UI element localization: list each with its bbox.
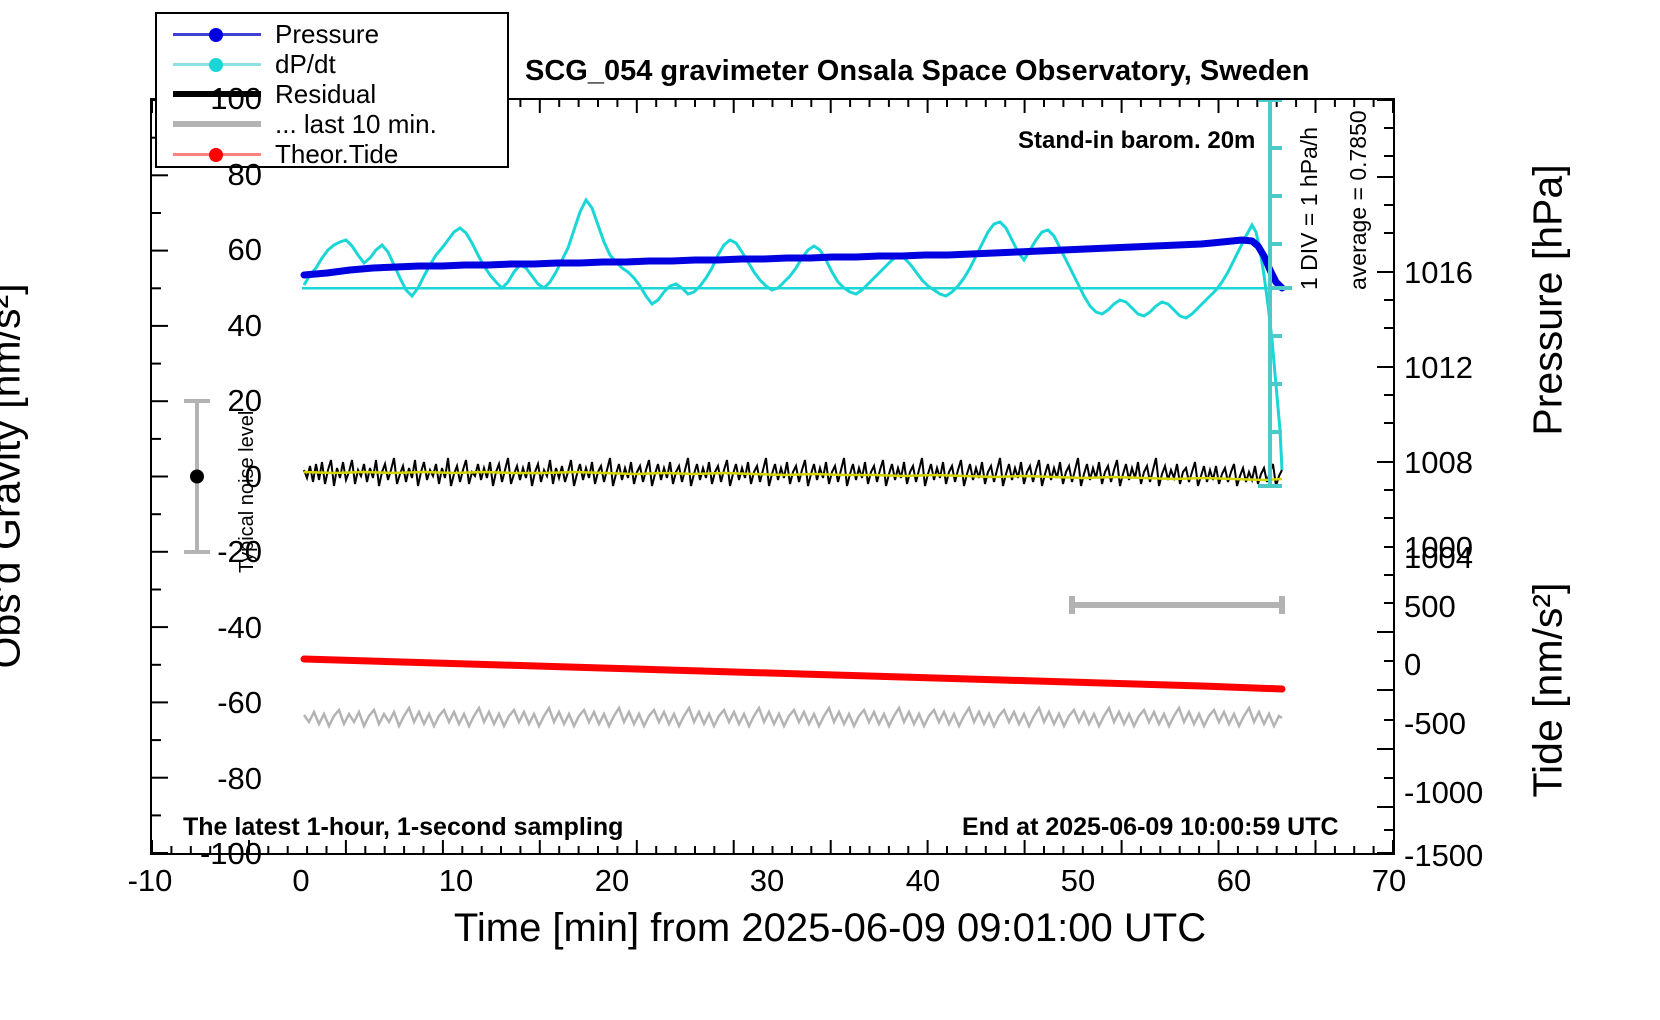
typical-noise-level-errorbar — [184, 401, 210, 552]
bottom-left-annotation: The latest 1-hour, 1-second sampling — [183, 813, 623, 842]
average-annotation: average = 0.7850 — [1345, 110, 1372, 290]
dpdt-scale-bar — [1258, 100, 1292, 486]
legend: Pressure dP/dt Residual ... last 10 min.… — [155, 12, 509, 168]
series-last-10-min — [304, 708, 1282, 726]
typical-noise-level-annotation: Typical noise level — [236, 411, 259, 573]
average-annotation-text: average = 0.7850 — [1345, 110, 1371, 290]
left-tick-60: 60 — [228, 232, 262, 268]
div-scale-annotation: 1 DIV = 1 hPa/h — [1296, 127, 1323, 290]
legend-label-residual: Residual — [275, 79, 376, 110]
legend-swatch-dpdt — [157, 50, 275, 79]
pressure-axis-label: Pressure [hPa] — [1525, 90, 1572, 510]
left-axis-label: Obs’d Gravity [nm/s²] — [0, 96, 30, 856]
tide-tick-m1000: -1000 — [1404, 775, 1483, 811]
legend-label-dpdt: dP/dt — [275, 49, 336, 80]
legend-label-last-10-min: ... last 10 min. — [275, 109, 437, 140]
pressure-tick-1012: 1012 — [1404, 350, 1473, 386]
legend-swatch-pressure — [157, 20, 275, 49]
x-tick-10: 10 — [411, 863, 501, 899]
left-tick-m40: -40 — [217, 610, 262, 646]
x-tick-40: 40 — [878, 863, 968, 899]
last-10-min-marker-bar — [1072, 596, 1282, 614]
left-axis-ticks — [152, 100, 168, 853]
pressure-tick-1016: 1016 — [1404, 255, 1473, 291]
pressure-tick-1008: 1008 — [1404, 445, 1473, 481]
left-tick-m80: -80 — [217, 761, 262, 797]
x-tick-0: 0 — [256, 863, 346, 899]
tide-tick-m500: -500 — [1404, 706, 1466, 742]
right-axis-ticks — [1377, 100, 1393, 853]
plot-area — [150, 98, 1395, 855]
pressure-axis-label-text: Pressure [hPa] — [1525, 164, 1571, 435]
left-tick-80: 80 — [228, 157, 262, 193]
div-scale-annotation-text: 1 DIV = 1 hPa/h — [1296, 127, 1322, 290]
tide-tick-500: 500 — [1404, 589, 1456, 625]
x-tick-20: 20 — [567, 863, 657, 899]
series-dpdt — [304, 200, 1282, 470]
legend-label-pressure: Pressure — [275, 19, 379, 50]
x-tick-50: 50 — [1033, 863, 1123, 899]
x-tick-30: 30 — [722, 863, 812, 899]
tide-tick-0: 0 — [1404, 647, 1421, 683]
tide-tick-1000: 1000 — [1404, 530, 1473, 566]
tide-axis-label-text: Tide [nm/s²] — [1525, 583, 1571, 798]
left-tick-100: 100 — [210, 81, 262, 117]
legend-item-theor-tide: Theor.Tide — [157, 140, 507, 169]
tide-tick-m1500: -1500 — [1404, 838, 1483, 874]
plot-svg — [152, 100, 1393, 853]
left-tick-m60: -60 — [217, 685, 262, 721]
legend-item-pressure: Pressure — [157, 20, 507, 49]
series-pressure — [304, 240, 1282, 288]
x-axis-label: Time [min] from 2025-06-09 09:01:00 UTC — [0, 906, 1660, 951]
standin-barom-annotation: Stand-in barom. 20m — [1018, 127, 1255, 155]
left-axis-label-text: Obs’d Gravity [nm/s²] — [0, 284, 29, 669]
series-theor-tide — [304, 659, 1282, 689]
x-tick-60: 60 — [1189, 863, 1279, 899]
typical-noise-level-text: Typical noise level — [236, 411, 258, 573]
x-tick-m10: -10 — [105, 863, 195, 899]
chart-title: SCG_054 gravimeter Onsala Space Observat… — [525, 55, 1309, 88]
bottom-right-annotation: End at 2025-06-09 10:00:59 UTC — [962, 813, 1339, 842]
legend-item-dpdt: dP/dt — [157, 50, 507, 79]
legend-label-theor-tide: Theor.Tide — [275, 139, 398, 170]
tide-axis-label: Tide [nm/s²] — [1525, 515, 1572, 865]
left-tick-40: 40 — [228, 308, 262, 344]
